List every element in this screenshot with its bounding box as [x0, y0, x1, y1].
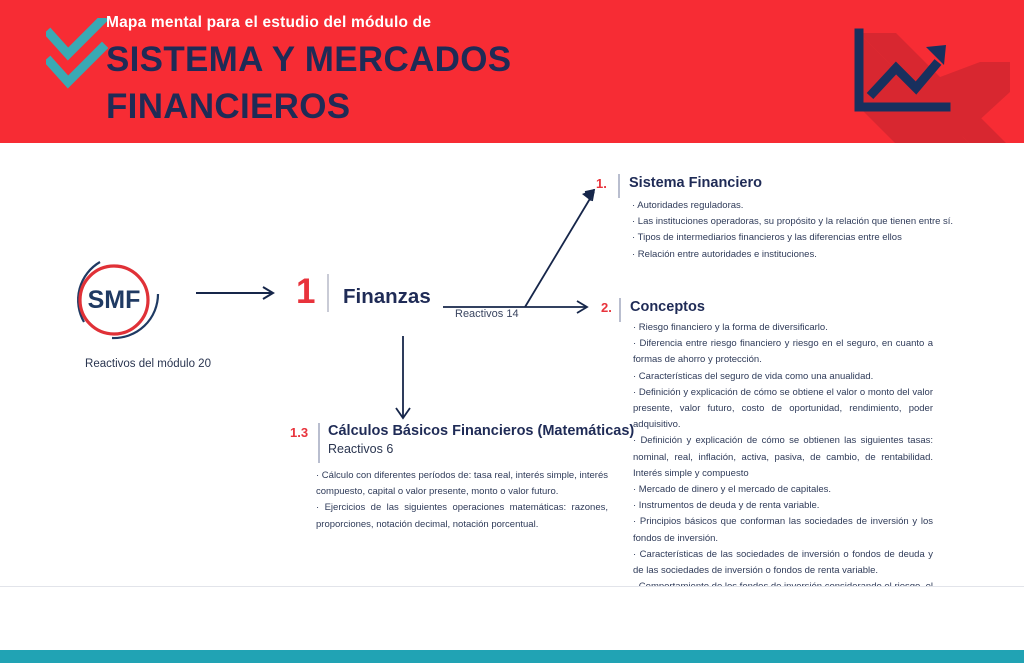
- level1-number: 1: [296, 274, 315, 309]
- level1-title: Finanzas: [343, 285, 431, 309]
- bullet-item: · Características de las sociedades de i…: [633, 547, 933, 579]
- bullet-item: · Principios básicos que conforman las s…: [633, 514, 933, 546]
- footer: SOY AGENTE ACTUALIZADO una marca de GE w…: [0, 587, 1024, 650]
- bullet-item: · Características del seguro de vida com…: [633, 369, 933, 385]
- branch-number: 1.3: [290, 425, 308, 440]
- branch-bullets: · Cálculo con diferentes períodos de: ta…: [316, 468, 608, 533]
- double-check-icon: [46, 18, 108, 90]
- branch-title: Conceptos: [630, 299, 705, 315]
- smf-acronym: SMF: [88, 286, 141, 314]
- arrow-smf-to-finanzas: [196, 287, 273, 299]
- branch-divider: [619, 298, 621, 322]
- bullet-item: · Mercado de dinero y el mercado de capi…: [633, 482, 933, 498]
- branch-title: Sistema Financiero: [629, 175, 762, 191]
- header-banner: Mapa mental para el estudio del módulo d…: [0, 0, 1024, 143]
- bullet-item: · Ejercicios de las siguientes operacion…: [316, 500, 608, 532]
- bullet-item: · Definición y explicación de cómo se ob…: [633, 385, 933, 434]
- bullet-item: · Tipos de intermediarios financieros y …: [632, 230, 992, 246]
- bullet-item: · Definición y explicación de cómo se ob…: [633, 433, 933, 482]
- bullet-item: · Instrumentos de deuda y de renta varia…: [633, 498, 933, 514]
- branch-bullets: · Autoridades reguladoras. · Las institu…: [632, 198, 992, 263]
- branch-number: 2.: [601, 300, 612, 315]
- page-title: SISTEMA Y MERCADOS FINANCIEROS: [106, 36, 866, 130]
- page-title-line2: FINANCIEROS: [106, 83, 866, 130]
- bullet-item: · Diferencia entre riesgo financiero y r…: [633, 336, 933, 368]
- bullet-item: · Riesgo financiero y la forma de divers…: [633, 320, 933, 336]
- growth-chart-arrow-icon: [834, 0, 1024, 143]
- bottom-accent-bar: [0, 650, 1024, 663]
- bullet-item: · Relación entre autoridades e instituci…: [632, 247, 992, 263]
- bullet-item: · Cálculo con diferentes períodos de: ta…: [316, 468, 608, 500]
- branch-title: Cálculos Básicos Financieros (Matemática…: [328, 423, 634, 439]
- branch-subtitle: Reactivos 6: [328, 442, 393, 456]
- bullet-item: · Las instituciones operadoras, su propó…: [632, 214, 992, 230]
- level1-reactivos: Reactivos 14: [455, 308, 519, 320]
- branch-number: 1.: [596, 176, 607, 191]
- arrow-finanzas-to-calculos: [396, 336, 410, 418]
- branch-divider: [618, 174, 620, 198]
- level1-divider: [327, 274, 329, 312]
- smf-logo-node: SMF: [62, 250, 182, 350]
- bullet-item: · Autoridades reguladoras.: [632, 198, 992, 214]
- arrow-finanzas-to-sistema: [525, 189, 594, 307]
- branch-divider: [318, 423, 320, 463]
- page-title-line1: SISTEMA Y MERCADOS: [106, 36, 866, 83]
- smf-caption: Reactivos del módulo 20: [58, 358, 238, 370]
- infographic-page: Mapa mental para el estudio del módulo d…: [0, 0, 1024, 663]
- header-subtitle: Mapa mental para el estudio del módulo d…: [106, 14, 431, 32]
